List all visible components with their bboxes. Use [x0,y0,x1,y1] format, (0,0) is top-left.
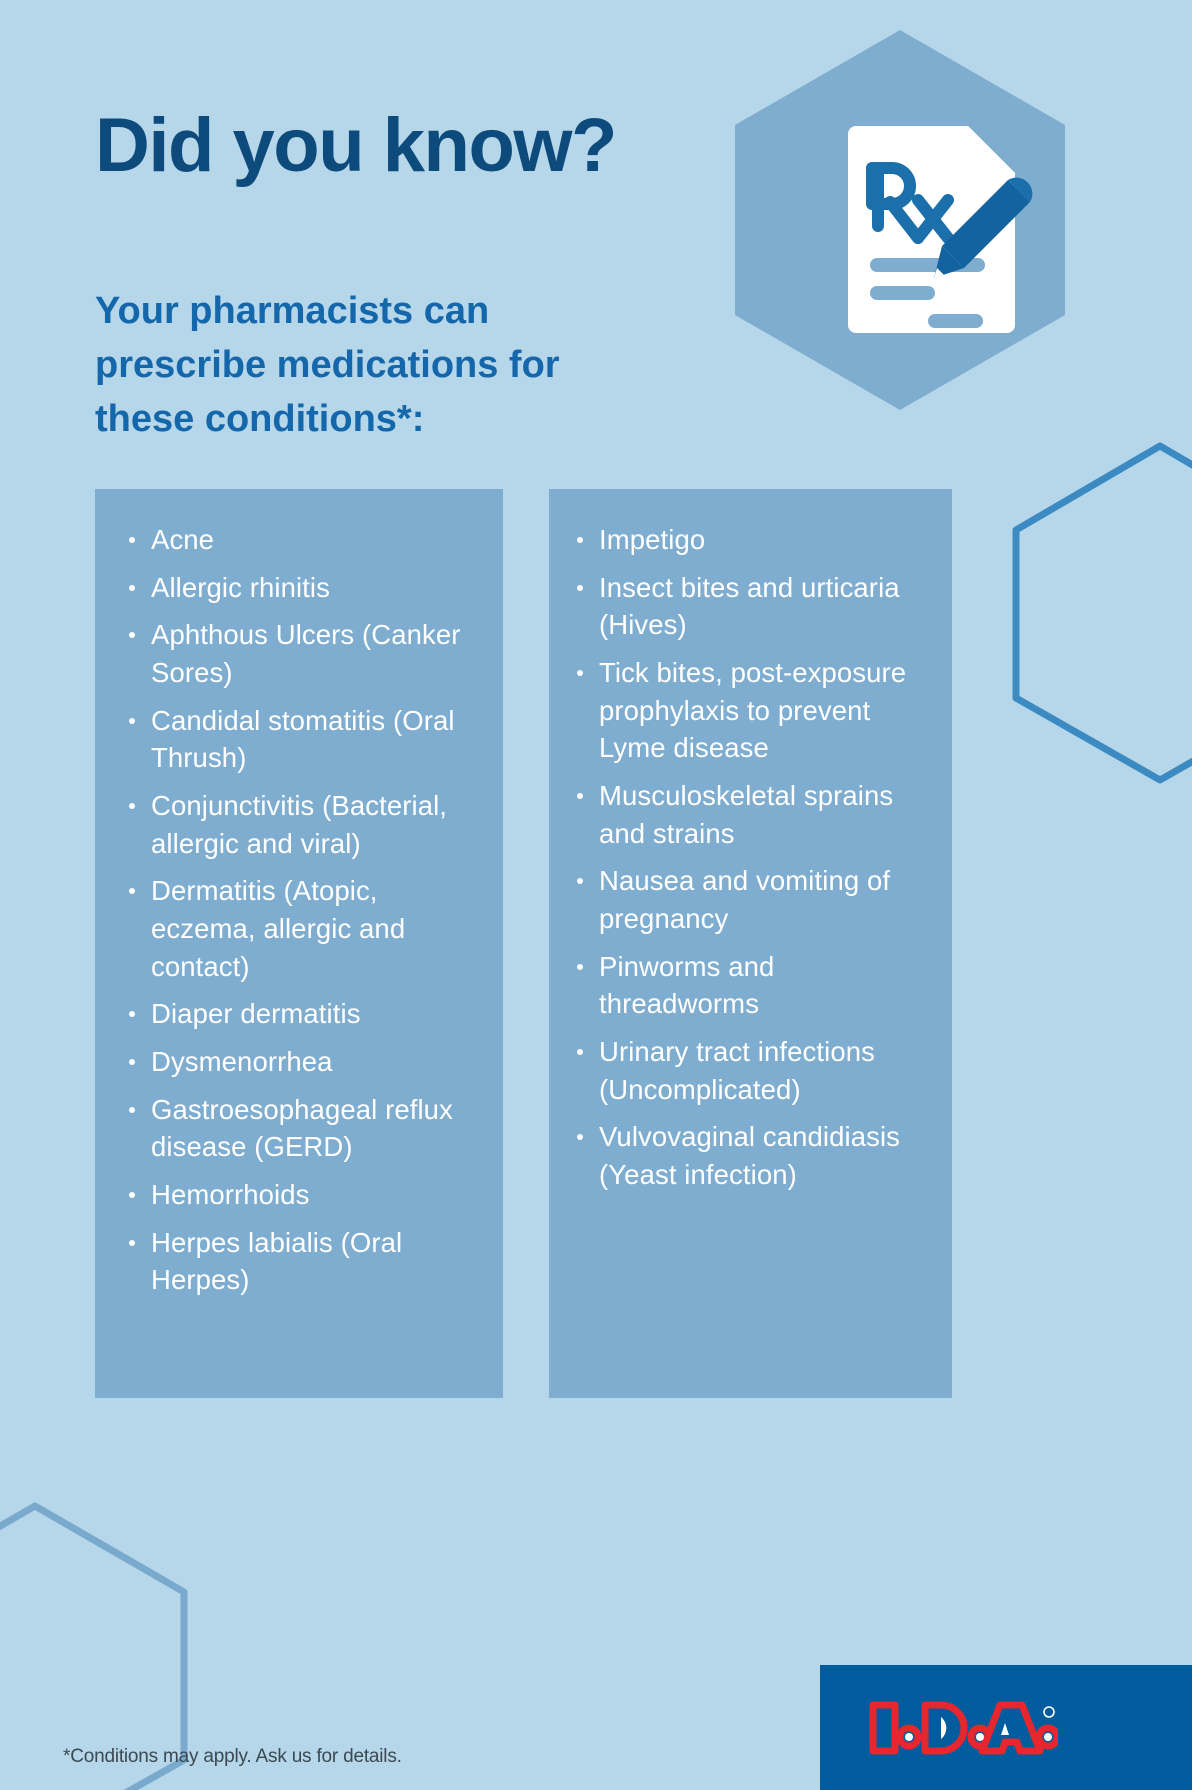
conditions-panel-left: Acne Allergic rhinitis Aphthous Ulcers (… [95,489,503,1398]
footnote-text: *Conditions may apply. Ask us for detail… [63,1746,402,1768]
page-subtitle: Your pharmacists can prescribe medicatio… [95,285,655,447]
conditions-list-left: Acne Allergic rhinitis Aphthous Ulcers (… [123,521,485,1299]
list-item: Musculoskeletal sprains and strains [571,777,942,852]
list-item: Impetigo [571,521,942,559]
list-item: Insect bites and urticaria (Hives) [571,569,942,644]
list-item: Pinworms and threadworms [571,948,942,1023]
page-title: Did you know? [95,108,616,184]
list-item: Tick bites, post-exposure prophylaxis to… [571,654,942,767]
list-item: Gastroesophageal reflux disease (GERD) [123,1091,485,1166]
list-item: Aphthous Ulcers (Canker Sores) [123,616,485,691]
list-item: Acne [123,521,485,559]
list-item: Diaper dermatitis [123,995,485,1033]
list-item: Allergic rhinitis [123,569,485,607]
conditions-panel-right: Impetigo Insect bites and urticaria (Hiv… [549,489,952,1398]
list-item: Vulvovaginal candidiasis (Yeast infectio… [571,1118,942,1193]
list-item: Dysmenorrhea [123,1043,485,1081]
conditions-list-right: Impetigo Insect bites and urticaria (Hiv… [571,521,942,1194]
list-item: Urinary tract infections (Uncomplicated) [571,1033,942,1108]
list-item: Dermatitis (Atopic, eczema, allergic and… [123,872,485,985]
list-item: Candidal stomatitis (Oral Thrush) [123,702,485,777]
decor-hexagon-outline-right [1010,440,1192,785]
brand-logo-block [820,1665,1192,1790]
list-item: Hemorrhoids [123,1176,485,1214]
ida-logo-icon [868,1697,1058,1759]
list-item: Nausea and vomiting of pregnancy [571,862,942,937]
poster-root: Did you know? Your pharmacists can presc… [0,0,1192,1790]
prescription-document-pencil-icon [840,118,1035,343]
list-item: Herpes labialis (Oral Herpes) [123,1224,485,1299]
list-item: Conjunctivitis (Bacterial, allergic and … [123,787,485,862]
